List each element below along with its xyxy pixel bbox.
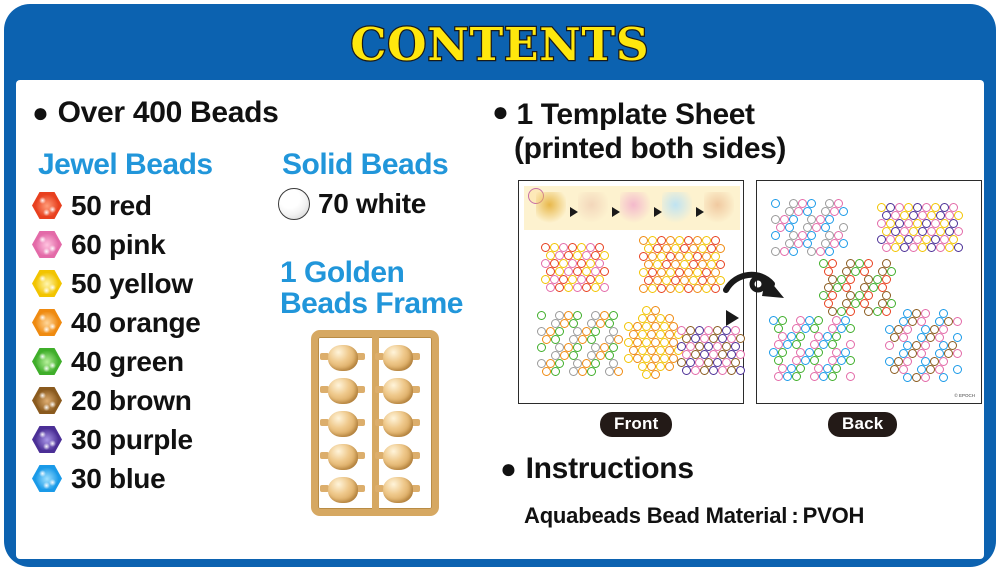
template-sheet-line2: (printed both sides) bbox=[492, 132, 786, 166]
bead-item-pink: 60 pink bbox=[32, 225, 201, 264]
purple-bead-icon bbox=[32, 426, 62, 453]
white-bead-icon bbox=[278, 188, 310, 220]
over-400-beads-label: Over 400 Beads bbox=[58, 96, 279, 130]
golden-bead bbox=[383, 444, 413, 470]
flip-arrow-icon bbox=[722, 268, 788, 314]
template-sheet-front-image bbox=[518, 180, 744, 404]
bead-label-red: 50 red bbox=[71, 190, 152, 222]
golden-beads-frame-image bbox=[311, 330, 439, 516]
instruction-strip bbox=[524, 186, 740, 230]
bullet-icon: ● bbox=[492, 98, 509, 126]
orange-bead-icon bbox=[32, 309, 62, 336]
instruction-step-5-icon bbox=[704, 192, 734, 224]
red-bead-icon bbox=[32, 192, 62, 219]
instruction-step-2-icon bbox=[578, 192, 608, 224]
green-bead-icon bbox=[32, 348, 62, 375]
bead-item-purple: 30 purple bbox=[32, 420, 201, 459]
brown-bead-icon bbox=[32, 387, 62, 414]
bead-item-red: 50 red bbox=[32, 186, 201, 225]
bead-label-green: 40 green bbox=[71, 346, 184, 378]
bead-item-blue: 30 blue bbox=[32, 459, 201, 498]
step-arrow-icon bbox=[570, 207, 578, 217]
golden-frame-heading-line2: Beads Frame bbox=[280, 289, 463, 320]
over-400-beads-item: ● Over 400 Beads bbox=[32, 96, 279, 130]
bead-label-purple: 30 purple bbox=[71, 424, 193, 456]
step-arrow-icon bbox=[696, 207, 704, 217]
bullet-icon: ● bbox=[32, 99, 49, 127]
copyright-label: © EPOCH bbox=[954, 393, 975, 398]
solid-beads-heading: Solid Beads bbox=[282, 148, 448, 182]
instruction-step-4-icon bbox=[662, 192, 692, 224]
golden-frame-heading: 1 Golden Beads Frame bbox=[280, 258, 463, 319]
step-arrow-icon bbox=[612, 207, 620, 217]
bead-item-brown: 20 brown bbox=[32, 381, 201, 420]
golden-bead bbox=[383, 345, 413, 371]
right-arrow-icon bbox=[726, 310, 739, 326]
blue-bead-icon bbox=[32, 465, 62, 492]
instruction-step-1-icon bbox=[536, 192, 566, 224]
bead-item-yellow: 50 yellow bbox=[32, 264, 201, 303]
jewel-beads-heading: Jewel Beads bbox=[38, 148, 213, 182]
bead-label-pink: 60 pink bbox=[71, 229, 165, 261]
template-sheet-line1: 1 Template Sheet bbox=[517, 98, 755, 132]
golden-bead bbox=[383, 411, 413, 437]
yellow-bead-icon bbox=[32, 270, 62, 297]
jewel-beads-list: 50 red60 pink50 yellow40 orange40 green2… bbox=[32, 186, 201, 498]
golden-bead bbox=[328, 378, 358, 404]
golden-bead bbox=[328, 345, 358, 371]
back-label-badge: Back bbox=[828, 412, 897, 437]
front-label-badge: Front bbox=[600, 412, 672, 437]
instructions-item: ● Instructions bbox=[500, 452, 694, 486]
golden-bead bbox=[328, 444, 358, 470]
solid-bead-item: 70 white bbox=[278, 188, 426, 220]
golden-bead bbox=[328, 477, 358, 503]
material-note: Aquabeads Bead Material : PVOH bbox=[524, 503, 864, 529]
contents-panel: CONTENTS ● Over 400 Beads Jewel Beads So… bbox=[0, 0, 1000, 571]
bead-label-orange: 40 orange bbox=[71, 307, 201, 339]
golden-bead bbox=[383, 378, 413, 404]
bead-item-orange: 40 orange bbox=[32, 303, 201, 342]
step-arrow-icon bbox=[654, 207, 662, 217]
bead-item-green: 40 green bbox=[32, 342, 201, 381]
instructions-label: Instructions bbox=[526, 452, 694, 486]
bead-label-brown: 20 brown bbox=[71, 385, 192, 417]
pink-bead-icon bbox=[32, 231, 62, 258]
golden-frame-heading-line1: 1 Golden bbox=[280, 258, 463, 289]
page-title: CONTENTS bbox=[4, 18, 996, 71]
template-sheet-heading: ● 1 Template Sheet (printed both sides) bbox=[492, 98, 786, 165]
bullet-icon: ● bbox=[500, 455, 517, 483]
golden-bead bbox=[383, 477, 413, 503]
template-sheet-back-image: CE EPOCH Company, Ltd. 2-6-8 Komagata, T… bbox=[756, 180, 982, 404]
bead-label-yellow: 50 yellow bbox=[71, 268, 193, 300]
instruction-step-3-icon bbox=[620, 192, 650, 224]
bead-label-blue: 30 blue bbox=[71, 463, 165, 495]
white-bead-label: 70 white bbox=[318, 188, 426, 220]
golden-bead bbox=[328, 411, 358, 437]
